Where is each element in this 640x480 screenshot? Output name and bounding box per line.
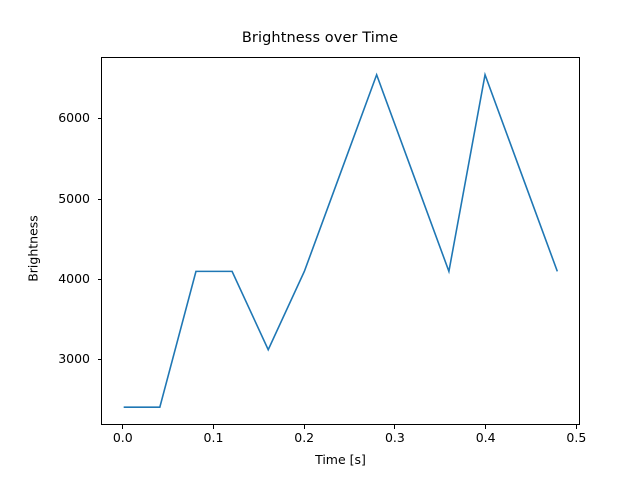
x-tick-label: 0.2 (274, 430, 334, 445)
plot-axes (101, 57, 580, 425)
x-tick-label: 0.0 (93, 430, 153, 445)
y-tick-label: 5000 (38, 191, 90, 206)
y-tick-label: 6000 (38, 110, 90, 125)
x-tick-mark (394, 425, 395, 429)
chart-title: Brightness over Time (0, 30, 640, 46)
figure-canvas: Brightness over Time 3000400050006000 0.… (0, 0, 640, 480)
x-tick-mark (576, 425, 577, 429)
y-axis-label: Brightness (26, 169, 41, 329)
y-tick-label: 3000 (38, 351, 90, 366)
line-plot-svg (102, 58, 579, 424)
x-tick-mark (213, 425, 214, 429)
x-tick-label: 0.1 (183, 430, 243, 445)
y-tick-label: 4000 (38, 271, 90, 286)
x-axis-label: Time [s] (101, 452, 580, 467)
x-tick-label: 0.5 (546, 430, 606, 445)
x-tick-mark (485, 425, 486, 429)
x-tick-mark (122, 425, 123, 429)
brightness-series-line (124, 75, 558, 407)
x-tick-label: 0.3 (365, 430, 425, 445)
x-tick-mark (304, 425, 305, 429)
x-tick-label: 0.4 (456, 430, 516, 445)
